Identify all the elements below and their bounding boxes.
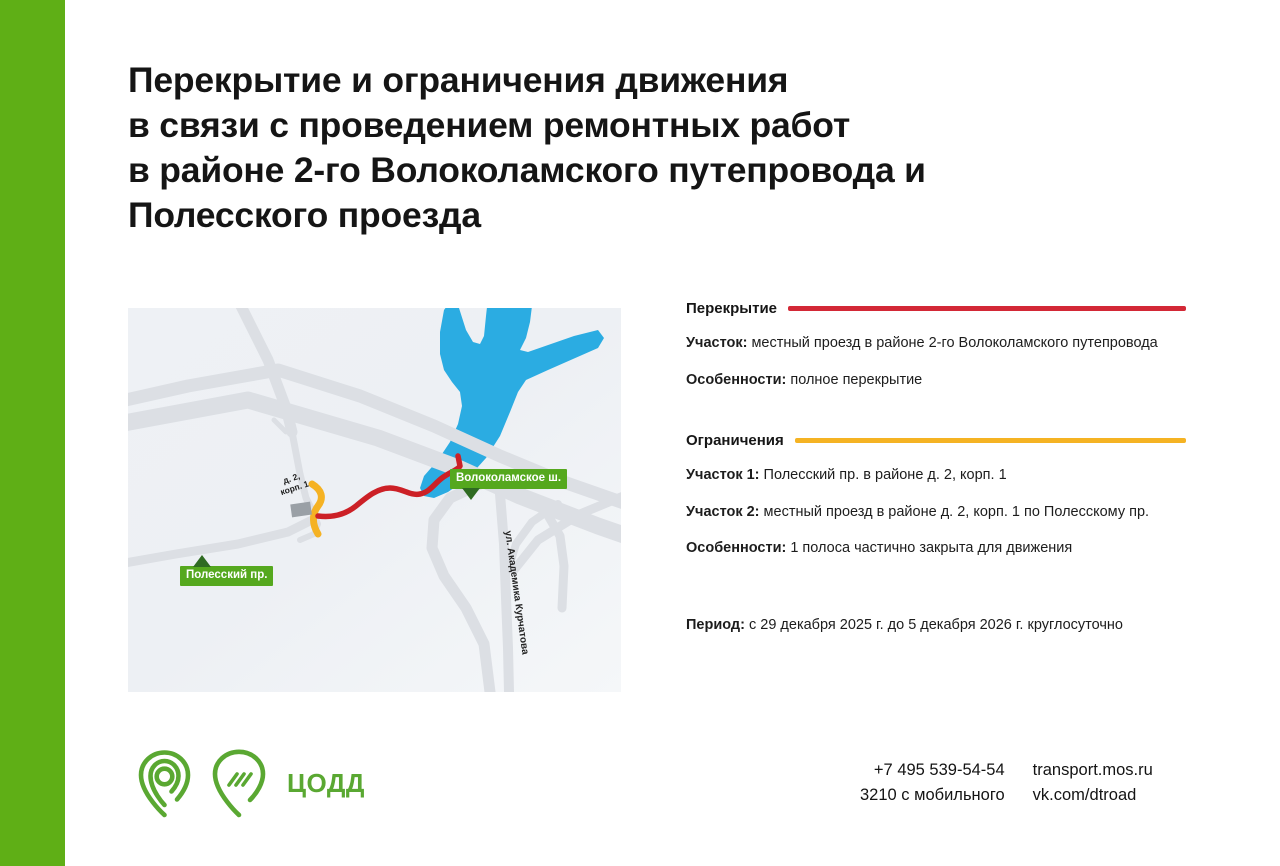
section-title-closure: Перекрытие [686, 300, 777, 317]
map-panel[interactable]: д. 2, корп. 1 ул. Академика Курчатова Во… [128, 308, 621, 692]
closure-osobennosti-value: полное перекрытие [790, 372, 922, 388]
contact-phone-main[interactable]: +7 495 539-54-54 [860, 758, 1005, 783]
restriction-uchastok-2-label: Участок 2: [686, 504, 760, 520]
info-column: Перекрытие Участок: местный проезд в рай… [686, 300, 1186, 635]
restriction-uchastok-1-value: Полесский пр. в районе д. 2, корп. 1 [764, 467, 1007, 483]
poster-root: Перекрытие и ограничения движения в связ… [0, 0, 1280, 866]
period-label: Период: [686, 617, 745, 633]
period-value: с 29 декабря 2025 г. до 5 декабря 2026 г… [749, 617, 1123, 633]
pin-stripes-icon [206, 747, 272, 819]
codd-logo-text: ЦОДД [287, 768, 365, 799]
restriction-uchastok-2: Участок 2: местный проезд в районе д. 2,… [686, 503, 1162, 523]
page-title: Перекрытие и ограничения движения в связ… [128, 58, 1188, 238]
pin-rings-icon [131, 747, 197, 819]
map-label-polesskiy[interactable]: Полесский пр. [180, 566, 273, 586]
contact-phone-mobile[interactable]: 3210 с мобильного [860, 783, 1005, 808]
building-marker [290, 502, 312, 518]
map-canvas [128, 308, 621, 692]
contacts-web-column: transport.mos.ru vk.com/dtroad [1033, 758, 1153, 808]
restriction-uchastok-1: Участок 1: Полесский пр. в районе д. 2, … [686, 466, 1162, 486]
contact-website[interactable]: transport.mos.ru [1033, 758, 1153, 783]
section-rule-red [788, 306, 1186, 311]
period-row: Период: с 29 декабря 2025 г. до 5 декабр… [686, 616, 1162, 636]
section-title-restrictions: Ограничения [686, 432, 784, 449]
contacts-block: +7 495 539-54-54 3210 с мобильного trans… [860, 758, 1153, 808]
contact-vk[interactable]: vk.com/dtroad [1033, 783, 1153, 808]
section-header-closure: Перекрытие [686, 300, 1186, 317]
map-label-volokolamskoe[interactable]: Волоколамское ш. [450, 469, 567, 489]
brand-green-bar [0, 0, 65, 866]
closure-uchastok: Участок: местный проезд в районе 2-го Во… [686, 334, 1162, 354]
restriction-uchastok-1-label: Участок 1: [686, 467, 760, 483]
closure-osobennosti-label: Особенности: [686, 372, 786, 388]
contacts-phone-column: +7 495 539-54-54 3210 с мобильного [860, 758, 1005, 808]
map-pin-tip-icon [193, 555, 211, 567]
closure-osobennosti: Особенности: полное перекрытие [686, 371, 1162, 391]
codd-logo[interactable]: ЦОДД [131, 747, 365, 819]
map-label-polesskiy-text: Полесский пр. [186, 569, 267, 581]
restriction-uchastok-2-value: местный проезд в районе д. 2, корп. 1 по… [764, 504, 1150, 520]
period-spacer [686, 559, 1186, 599]
section-rule-amber [795, 438, 1186, 443]
restriction-osobennosti-value: 1 полоса частично закрыта для движения [790, 540, 1072, 556]
map-pin-tip-icon [462, 488, 480, 500]
closure-uchastok-label: Участок: [686, 335, 747, 351]
section-spacer [686, 390, 1186, 432]
section-header-restrictions: Ограничения [686, 432, 1186, 449]
restriction-osobennosti-label: Особенности: [686, 540, 786, 556]
closure-uchastok-value: местный проезд в районе 2-го Волоколамск… [751, 335, 1157, 351]
restriction-osobennosti: Особенности: 1 полоса частично закрыта д… [686, 539, 1162, 559]
map-label-volokolamskoe-text: Волоколамское ш. [456, 472, 561, 484]
